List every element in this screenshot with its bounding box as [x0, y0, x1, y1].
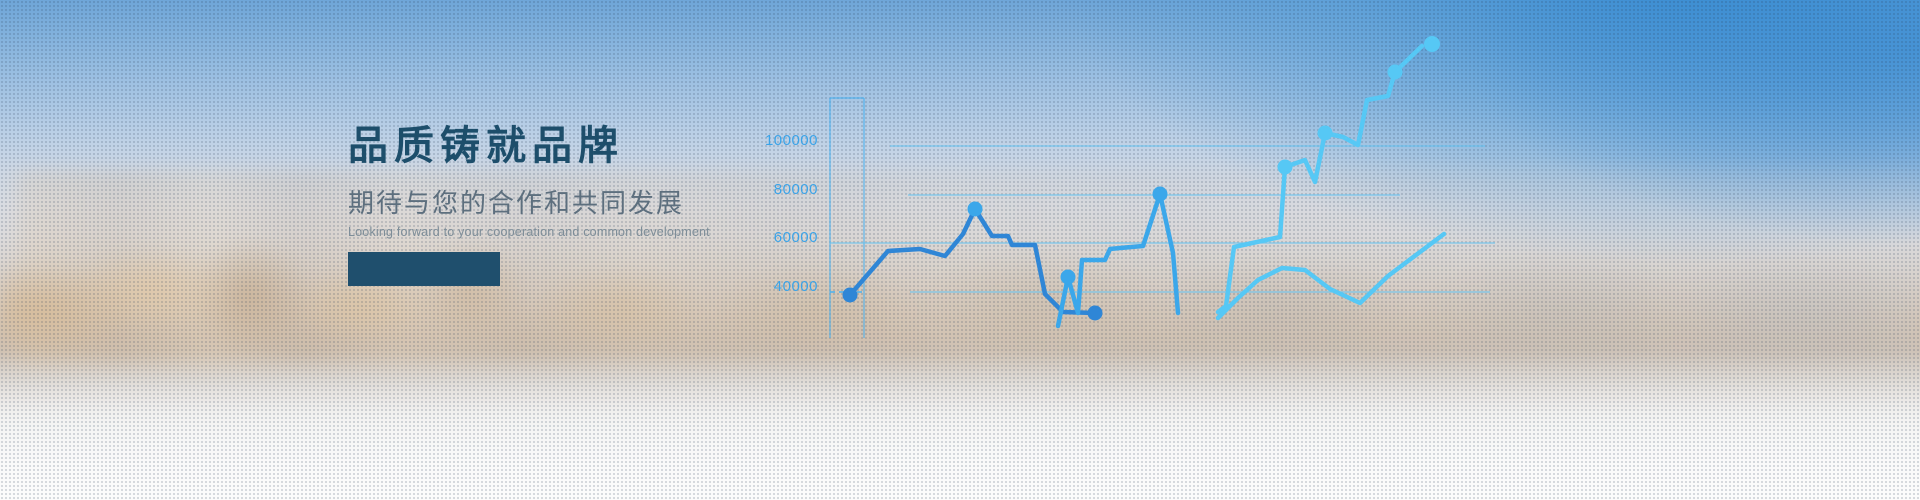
- data-point-marker: [1424, 36, 1440, 52]
- chart-series-2: [1058, 187, 1178, 327]
- data-point-marker: [1278, 160, 1293, 175]
- data-point-marker: [1318, 126, 1333, 141]
- data-point-marker: [1061, 270, 1076, 285]
- chart-series-4: [1218, 234, 1444, 318]
- chart-y-axis-labels: 100000 80000 60000 40000: [765, 132, 818, 295]
- banner-cta-button[interactable]: [348, 252, 500, 286]
- data-point-marker: [968, 202, 983, 217]
- data-point-marker: [1088, 306, 1103, 321]
- data-point-marker: [1153, 187, 1168, 202]
- hero-banner: 品质铸就品牌 期待与您的合作和共同发展 Looking forward to y…: [0, 0, 1920, 500]
- ytick-label-100000: 100000: [765, 132, 818, 149]
- data-point-marker: [1388, 65, 1403, 80]
- chart-series-3: [1218, 36, 1440, 312]
- data-point-marker: [843, 288, 858, 303]
- ytick-label-80000: 80000: [774, 181, 818, 198]
- ytick-label-60000: 60000: [774, 229, 818, 246]
- decorative-line-chart: 100000 80000 60000 40000: [760, 0, 1920, 500]
- chart-axis-frame: [830, 98, 864, 338]
- ytick-label-40000: 40000: [774, 278, 818, 295]
